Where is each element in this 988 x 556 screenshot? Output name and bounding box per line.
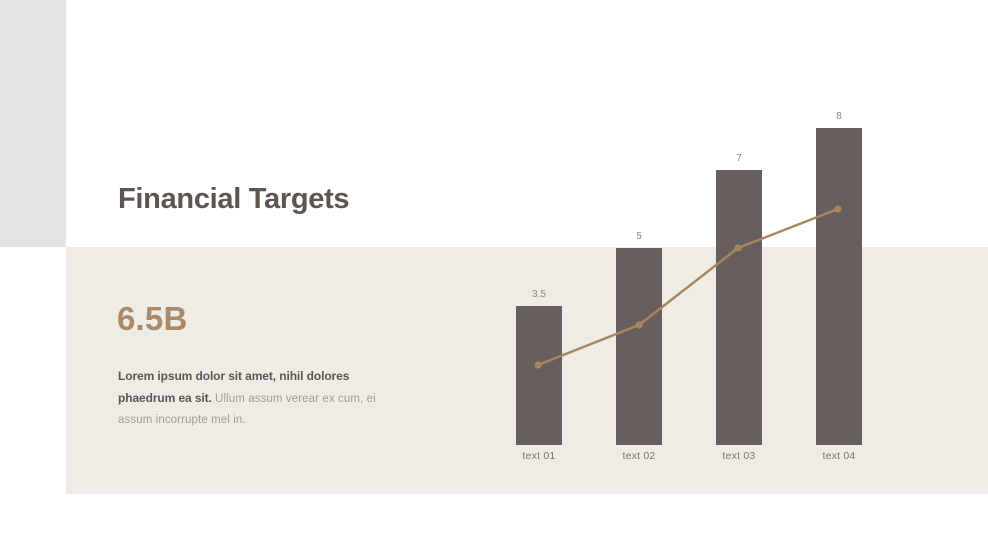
bar-2 <box>616 248 662 445</box>
body-paragraph: Lorem ipsum dolor sit amet, nihil dolore… <box>118 366 408 431</box>
bar-label-4: text 04 <box>809 450 869 462</box>
bar-value-4: 8 <box>809 111 869 122</box>
page-title: Financial Targets <box>118 183 349 216</box>
bar-label-3: text 03 <box>709 450 769 462</box>
bar-1 <box>516 306 562 445</box>
bar-label-2: text 02 <box>609 450 669 462</box>
bar-label-1: text 01 <box>509 450 569 462</box>
bar-value-1: 3.5 <box>509 289 569 300</box>
bar-value-2: 5 <box>609 231 669 242</box>
bar-value-3: 7 <box>709 153 769 164</box>
bar-3 <box>716 170 762 445</box>
slide-canvas: Financial Targets 6.5B Lorem ipsum dolor… <box>0 0 988 556</box>
decorative-gray-block <box>0 0 66 247</box>
headline-statistic: 6.5B <box>117 300 188 338</box>
bar-4 <box>816 128 862 445</box>
